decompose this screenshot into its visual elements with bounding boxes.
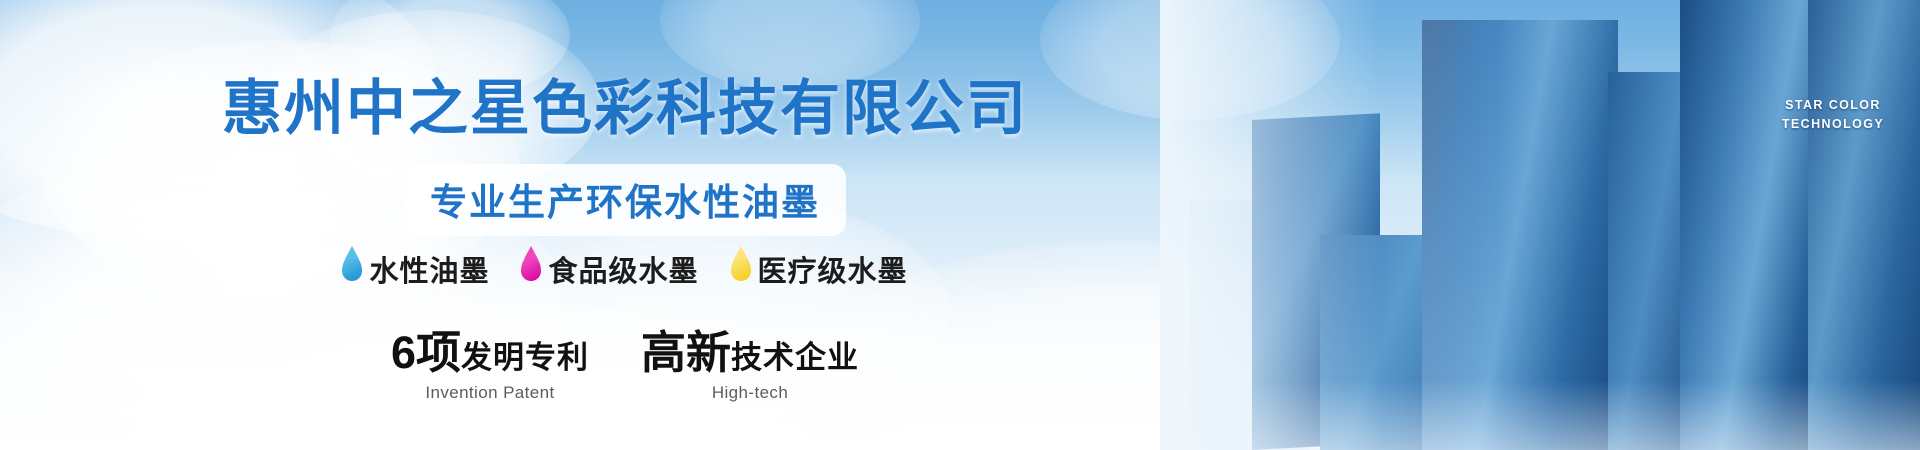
building-brand-line-2: TECHNOLOGY (1774, 115, 1892, 134)
credential-count: 6项 (391, 327, 461, 378)
ink-item-label: 医疗级水墨 (758, 248, 908, 290)
ink-item-label: 食品级水墨 (548, 248, 698, 290)
credential-label: 技术企业 (731, 340, 859, 375)
ink-type-list: 水性油墨 食品级水墨 医疗级水墨 (0, 248, 1250, 290)
building-brand-line-1: STAR COLOR (1774, 96, 1892, 115)
hero-banner: Star Color STAR COLOR TECHNOLOGY 惠州中之星色彩… (0, 0, 1920, 450)
building (1680, 0, 1820, 450)
credential-high-tech: 高新技术企业 High-tech (641, 330, 859, 403)
skyscraper-photo: STAR COLOR TECHNOLOGY (1160, 0, 1920, 450)
building (1808, 0, 1920, 450)
ink-item-medical-grade: 医疗级水墨 (731, 248, 908, 290)
banner-content: 惠州中之星色彩科技有限公司 专业生产环保水性油墨 水性油墨 食品级水墨 医疗级水… (0, 0, 1250, 450)
water-drop-icon (342, 255, 362, 281)
credential-label: 发明专利 (461, 340, 589, 375)
credential-invention-patent: 6项发明专利 Invention Patent (391, 330, 589, 403)
ink-item-food-grade: 食品级水墨 (521, 248, 698, 290)
water-drop-icon (521, 255, 541, 281)
building-brand-label: STAR COLOR TECHNOLOGY (1774, 96, 1892, 135)
credential-count: 高新 (641, 327, 731, 378)
subtitle-container: 专业生产环保水性油墨 (0, 164, 1250, 236)
company-title: 惠州中之星色彩科技有限公司 (0, 60, 1250, 147)
building (1422, 20, 1618, 450)
subtitle-badge: 专业生产环保水性油墨 (404, 164, 846, 236)
credential-headline: 6项发明专利 (391, 330, 589, 375)
credential-english: High-tech (641, 383, 859, 403)
ink-item-label: 水性油墨 (369, 248, 489, 290)
credential-english: Invention Patent (391, 383, 589, 403)
credentials-list: 6项发明专利 Invention Patent 高新技术企业 High-tech (0, 330, 1250, 403)
credential-headline: 高新技术企业 (641, 330, 859, 375)
water-drop-icon (731, 255, 751, 281)
ink-item-water-based: 水性油墨 (342, 248, 489, 290)
